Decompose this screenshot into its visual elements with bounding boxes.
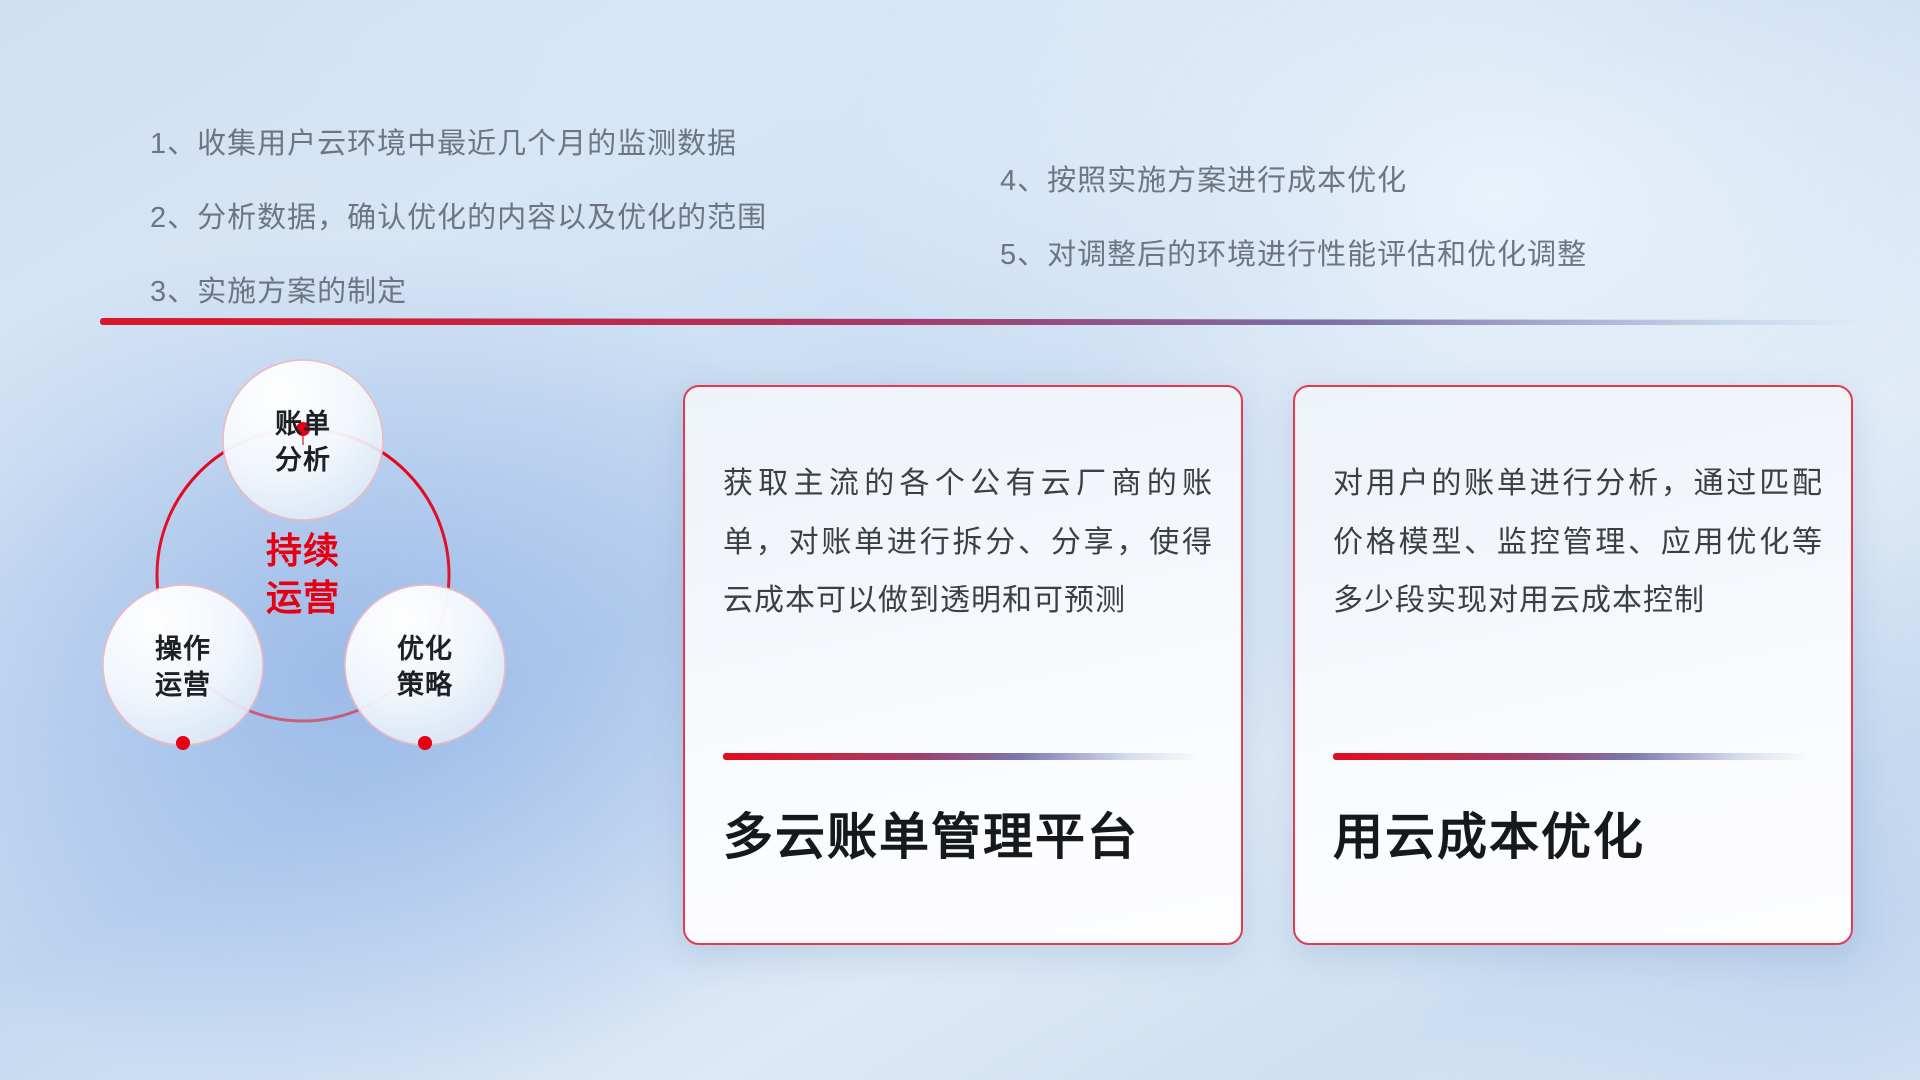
continuous-operation-diagram: 持续 运营 账单 分析 操作 运营 优化 策略 [95, 345, 615, 945]
slide-canvas: 1、收集用户云环境中最近几个月的监测数据 2、分析数据，确认优化的内容以及优化的… [0, 0, 1920, 1080]
diagram-node-label-strategy: 优化 策略 [345, 632, 505, 703]
step-item-5: 5、对调整后的环境进行性能评估和优化调整 [1000, 231, 1587, 273]
ring-dot-right [418, 736, 432, 750]
ring-dot-left [176, 736, 190, 750]
card-divider [1333, 753, 1811, 760]
steps-list-left: 1、收集用户云环境中最近几个月的监测数据 2、分析数据，确认优化的内容以及优化的… [150, 120, 767, 342]
step-item-2: 2、分析数据，确认优化的内容以及优化的范围 [150, 194, 767, 236]
card-body-text: 对用户的账单进行分析，通过匹配价格模型、监控管理、应用优化等多少段实现对用云成本… [1333, 455, 1823, 631]
section-divider [100, 318, 1860, 325]
diagram-node-label-operations: 操作 运营 [103, 632, 263, 703]
card-divider [723, 753, 1201, 760]
diagram-node-label-billing: 账单 分析 [223, 407, 383, 478]
diagram-center-label: 持续 运营 [223, 528, 383, 622]
card-title: 用云成本优化 [1333, 797, 1823, 869]
step-item-4: 4、按照实施方案进行成本优化 [1000, 157, 1587, 199]
card-title: 多云账单管理平台 [723, 797, 1213, 869]
step-item-3: 3、实施方案的制定 [150, 268, 767, 310]
card-body-text: 获取主流的各个公有云厂商的账单，对账单进行拆分、分享，使得云成本可以做到透明和可… [723, 455, 1213, 631]
feature-card-cost-optimization[interactable]: 对用户的账单进行分析，通过匹配价格模型、监控管理、应用优化等多少段实现对用云成本… [1293, 385, 1853, 945]
step-item-1: 1、收集用户云环境中最近几个月的监测数据 [150, 120, 767, 162]
steps-list-right: 4、按照实施方案进行成本优化 5、对调整后的环境进行性能评估和优化调整 [1000, 157, 1587, 305]
feature-card-multicloud-billing[interactable]: 获取主流的各个公有云厂商的账单，对账单进行拆分、分享，使得云成本可以做到透明和可… [683, 385, 1243, 945]
